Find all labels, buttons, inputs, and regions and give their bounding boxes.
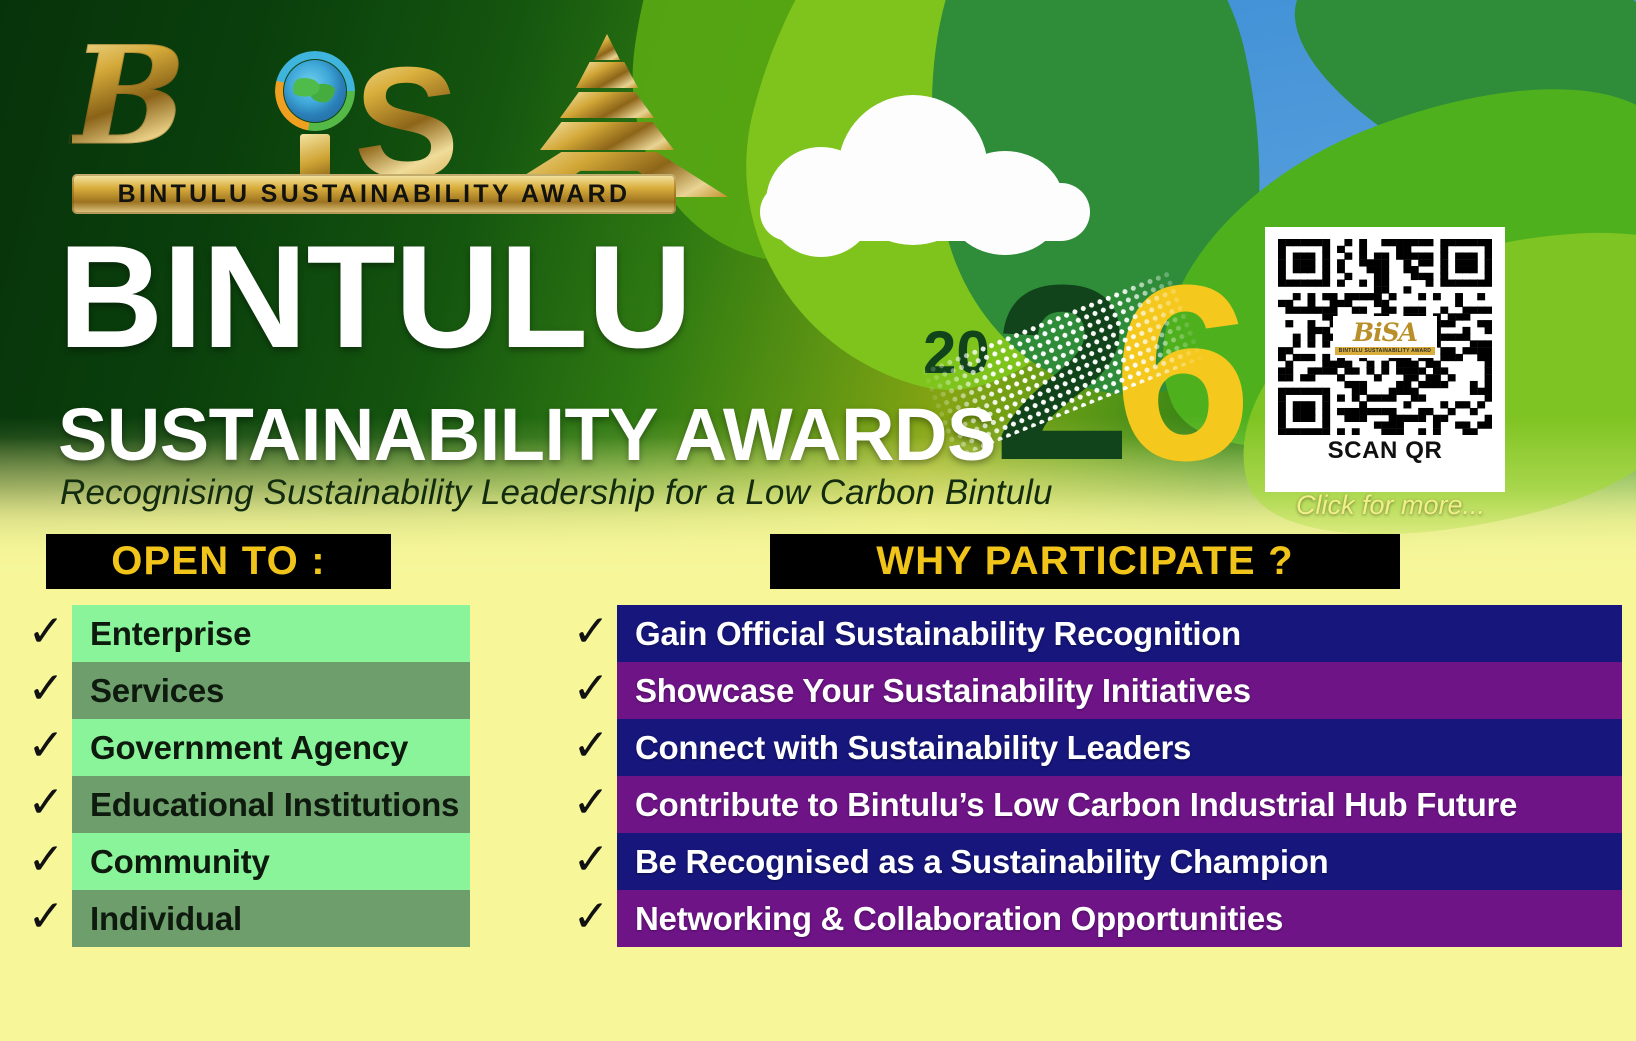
poster-root: B S BINTULU SUSTAINABILITY AWARD BINTULU… bbox=[0, 0, 1636, 1041]
list-item[interactable]: ✓Government Agency bbox=[20, 719, 470, 776]
open-to-row-bar: Government Agency bbox=[72, 719, 470, 776]
check-icon: ✓ bbox=[565, 838, 617, 886]
list-item[interactable]: ✓Individual bbox=[20, 890, 470, 947]
click-for-more-label[interactable]: Click for more... bbox=[1296, 490, 1485, 521]
list-item[interactable]: ✓Community bbox=[20, 833, 470, 890]
list-item-label: Be Recognised as a Sustainability Champi… bbox=[635, 843, 1328, 881]
open-to-banner: OPEN TO : bbox=[46, 534, 391, 589]
list-item-label: Showcase Your Sustainability Initiatives bbox=[635, 672, 1251, 710]
logo-letter-b: B bbox=[72, 28, 186, 163]
why-participate-heading: WHY PARTICIPATE ? bbox=[876, 539, 1293, 584]
why-participate-list: ✓Gain Official Sustainability Recognitio… bbox=[565, 605, 1622, 947]
bisa-logo-mark: B S bbox=[66, 22, 686, 172]
open-to-row-bar: Educational Institutions bbox=[72, 776, 470, 833]
why-row-bar: Connect with Sustainability Leaders bbox=[617, 719, 1622, 776]
globe-icon bbox=[284, 60, 346, 122]
list-item-label: Contribute to Bintulu’s Low Carbon Indus… bbox=[635, 786, 1517, 824]
check-icon: ✓ bbox=[20, 838, 72, 886]
check-icon: ✓ bbox=[565, 610, 617, 658]
list-item-label: Services bbox=[90, 672, 224, 710]
logo-ribbon-text: BINTULU SUSTAINABILITY AWARD bbox=[118, 180, 631, 209]
qr-logo-letters: BiSA bbox=[1353, 320, 1417, 345]
check-icon: ✓ bbox=[20, 724, 72, 772]
list-item-label: Networking & Collaboration Opportunities bbox=[635, 900, 1283, 938]
bisa-logo: B S BINTULU SUSTAINABILITY AWARD bbox=[66, 22, 686, 214]
open-to-row-bar: Services bbox=[72, 662, 470, 719]
year-digit-2: 2 bbox=[993, 248, 1132, 498]
list-item[interactable]: ✓Networking & Collaboration Opportunitie… bbox=[565, 890, 1622, 947]
list-item[interactable]: ✓Services bbox=[20, 662, 470, 719]
check-icon: ✓ bbox=[565, 895, 617, 943]
check-icon: ✓ bbox=[20, 610, 72, 658]
list-item[interactable]: ✓Showcase Your Sustainability Initiative… bbox=[565, 662, 1622, 719]
qr-caption: SCAN QR bbox=[1328, 437, 1443, 465]
open-to-row-bar: Enterprise bbox=[72, 605, 470, 662]
check-icon: ✓ bbox=[565, 781, 617, 829]
list-item[interactable]: ✓Connect with Sustainability Leaders bbox=[565, 719, 1622, 776]
check-icon: ✓ bbox=[20, 667, 72, 715]
list-item-label: Connect with Sustainability Leaders bbox=[635, 729, 1191, 767]
list-item-label: Enterprise bbox=[90, 615, 251, 653]
check-icon: ✓ bbox=[20, 895, 72, 943]
qr-code-card[interactable]: BiSA BINTULU SUSTAINABILITY AWARD SCAN Q… bbox=[1265, 227, 1505, 492]
why-participate-banner: WHY PARTICIPATE ? bbox=[770, 534, 1400, 589]
check-icon: ✓ bbox=[20, 781, 72, 829]
gas-tower-icon bbox=[484, 32, 734, 197]
why-row-bar: Contribute to Bintulu’s Low Carbon Indus… bbox=[617, 776, 1622, 833]
list-item-label: Government Agency bbox=[90, 729, 408, 767]
open-to-row-bar: Community bbox=[72, 833, 470, 890]
tagline: Recognising Sustainability Leadership fo… bbox=[60, 473, 1053, 513]
page-title: BINTULU bbox=[58, 228, 692, 367]
qr-logo-ribbon: BINTULU SUSTAINABILITY AWARD bbox=[1335, 347, 1435, 355]
logo-ribbon: BINTULU SUSTAINABILITY AWARD bbox=[72, 174, 676, 214]
list-item[interactable]: ✓Educational Institutions bbox=[20, 776, 470, 833]
year-digit-6: 6 bbox=[1113, 248, 1252, 498]
year-graphic: 2 6 20 bbox=[905, 238, 1225, 513]
open-to-list: ✓Enterprise✓Services✓Government Agency✓E… bbox=[20, 605, 470, 947]
list-item[interactable]: ✓Contribute to Bintulu’s Low Carbon Indu… bbox=[565, 776, 1622, 833]
check-icon: ✓ bbox=[565, 667, 617, 715]
qr-center-logo: BiSA BINTULU SUSTAINABILITY AWARD bbox=[1333, 316, 1437, 358]
list-item-label: Educational Institutions bbox=[90, 786, 459, 824]
list-item-label: Gain Official Sustainability Recognition bbox=[635, 615, 1241, 653]
list-item-label: Community bbox=[90, 843, 270, 881]
list-item[interactable]: ✓Be Recognised as a Sustainability Champ… bbox=[565, 833, 1622, 890]
list-item-label: Individual bbox=[90, 900, 242, 938]
page-subtitle: SUSTAINABILITY AWARDS bbox=[58, 398, 996, 472]
list-item[interactable]: ✓Gain Official Sustainability Recognitio… bbox=[565, 605, 1622, 662]
why-row-bar: Gain Official Sustainability Recognition bbox=[617, 605, 1622, 662]
open-to-heading: OPEN TO : bbox=[111, 539, 326, 584]
year-prefix: 20 bbox=[923, 323, 990, 383]
why-row-bar: Showcase Your Sustainability Initiatives bbox=[617, 662, 1622, 719]
list-item[interactable]: ✓Enterprise bbox=[20, 605, 470, 662]
check-icon: ✓ bbox=[565, 724, 617, 772]
qr-code-image[interactable]: BiSA BINTULU SUSTAINABILITY AWARD bbox=[1278, 239, 1492, 435]
why-row-bar: Be Recognised as a Sustainability Champi… bbox=[617, 833, 1622, 890]
why-row-bar: Networking & Collaboration Opportunities bbox=[617, 890, 1622, 947]
open-to-row-bar: Individual bbox=[72, 890, 470, 947]
